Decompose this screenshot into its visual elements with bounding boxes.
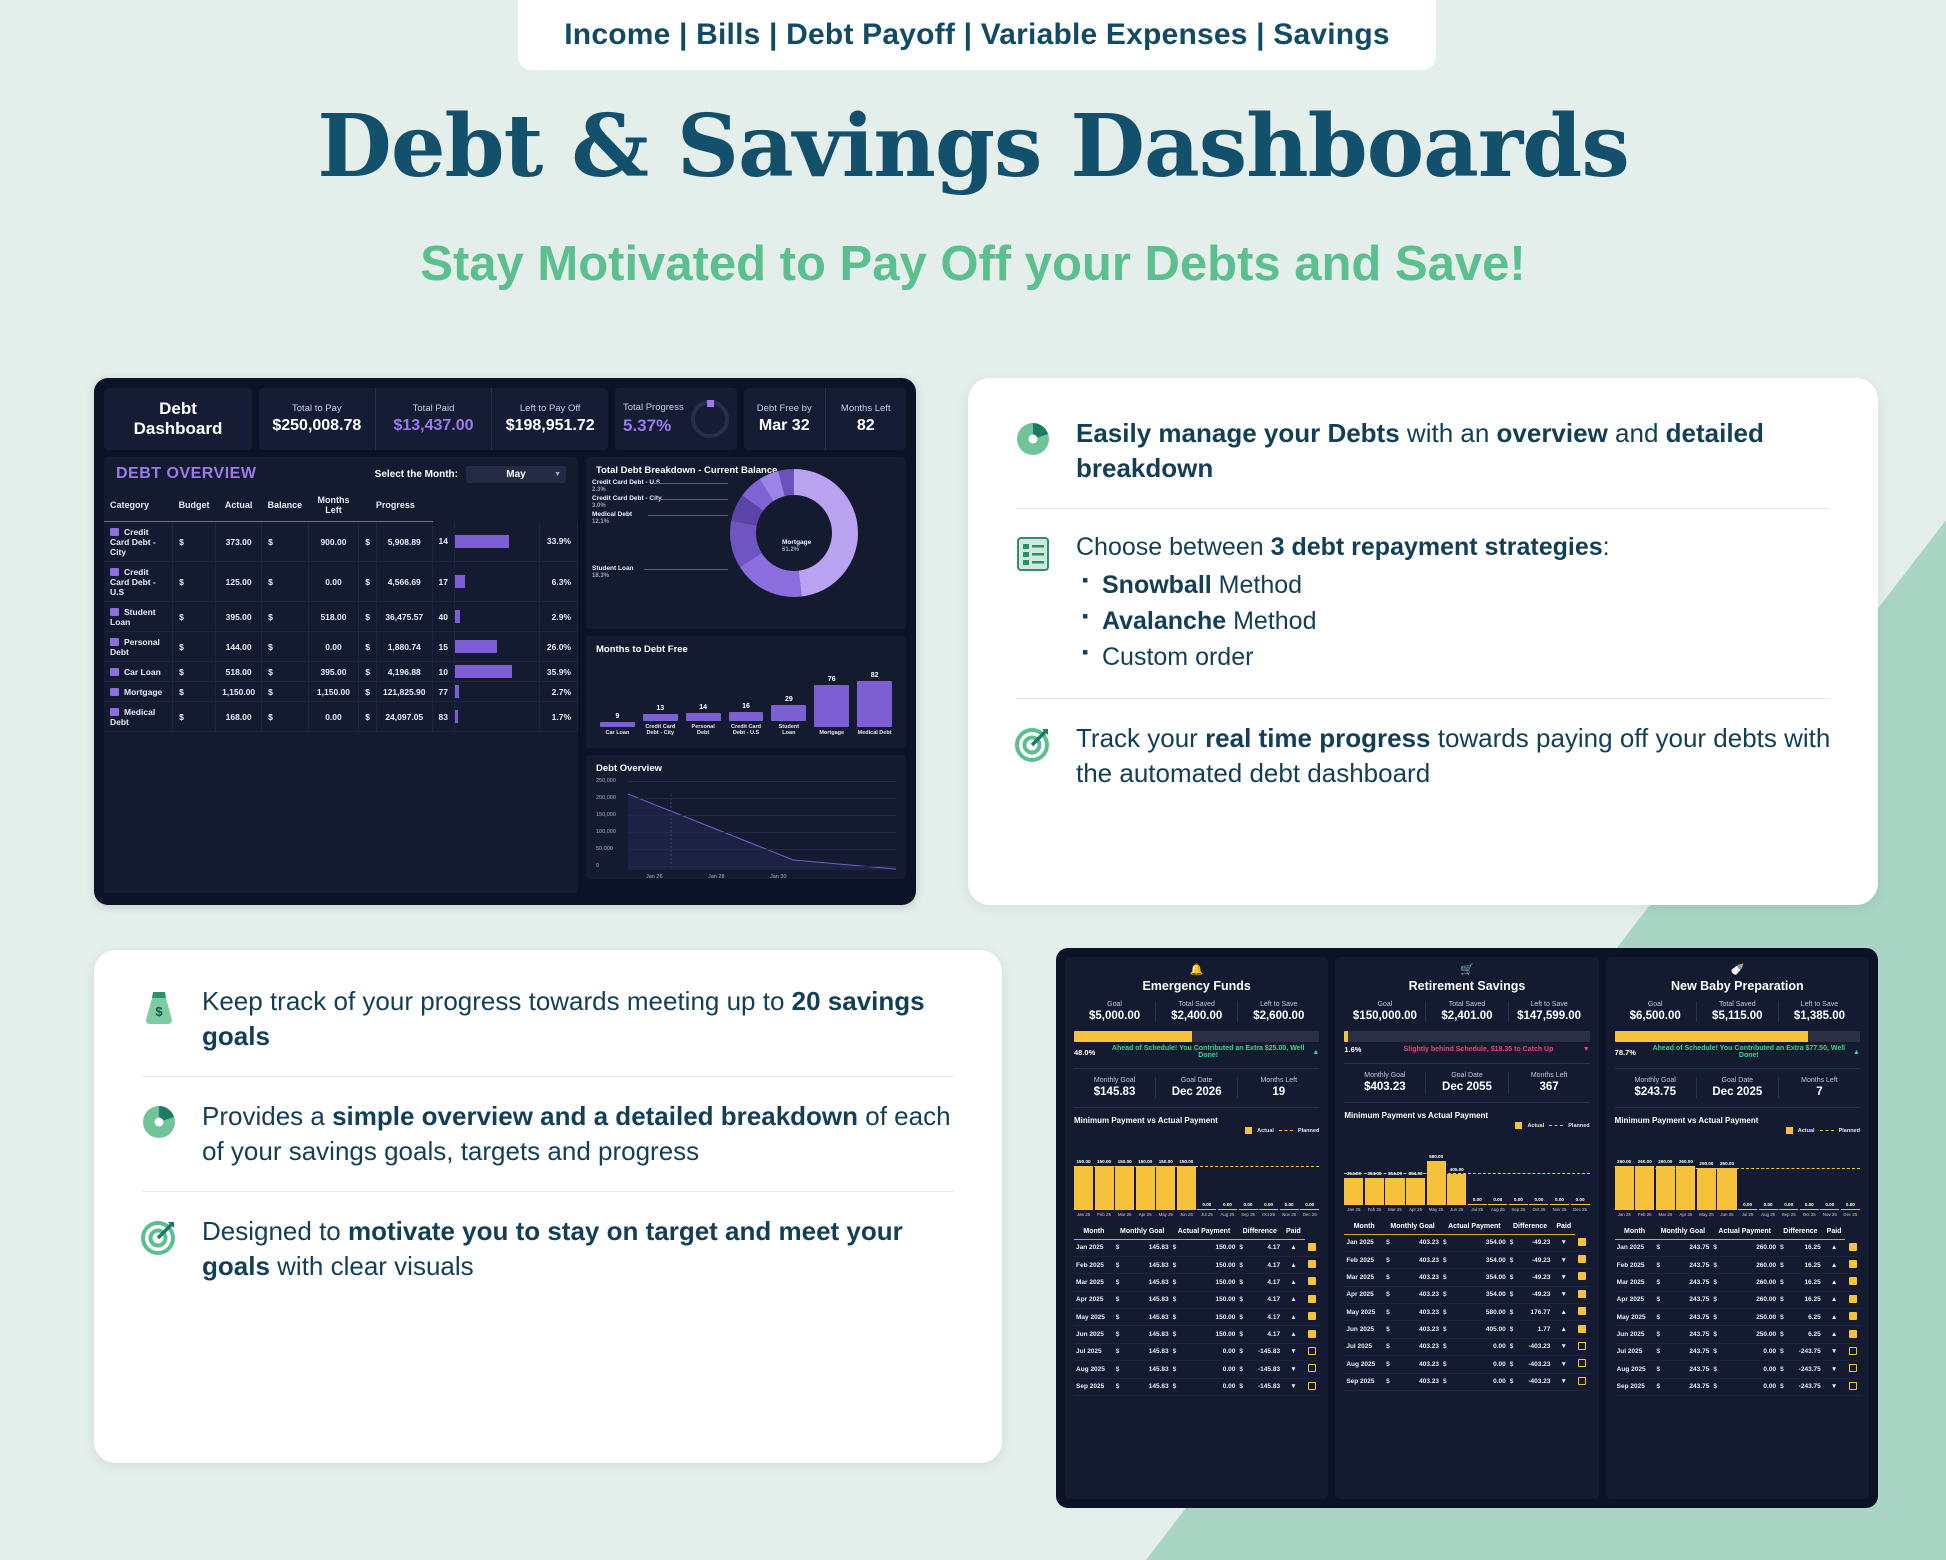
- bar-value: 260.00: [1638, 1159, 1652, 1164]
- cell-actual-payment: 0.00: [1178, 1378, 1237, 1395]
- cell-paid[interactable]: [1575, 1304, 1590, 1321]
- bar-column: 150.00: [1115, 1148, 1134, 1210]
- cell-paid[interactable]: [1305, 1256, 1320, 1273]
- bar: [857, 681, 892, 727]
- cell-difference: -403.23: [1515, 1338, 1552, 1355]
- cell-balance: 24,097.05: [376, 702, 432, 732]
- chart-title: Debt Overview: [596, 763, 896, 774]
- paid-checkbox[interactable]: [1849, 1347, 1857, 1355]
- cell-budget: 125.00: [216, 562, 262, 602]
- month-dropdown[interactable]: May ▼: [466, 466, 566, 483]
- table-row[interactable]: Apr 2025$145.83$150.00$4.17▲: [1074, 1291, 1319, 1308]
- cell-difference: -145.83: [1245, 1378, 1282, 1395]
- cell-difference: 4.17: [1245, 1256, 1282, 1273]
- cell-actual-payment: 150.00: [1178, 1291, 1237, 1308]
- paid-checkbox[interactable]: [1849, 1312, 1857, 1320]
- table-row[interactable]: Credit Card Debt - U.S$125.00$0.00$4,566…: [104, 562, 578, 602]
- cell-months-left: 40: [432, 602, 454, 632]
- donut-slice-label: Credit Card Debt - U.S2.3%: [592, 479, 660, 495]
- cell-progress-pct: 1.7%: [540, 702, 578, 732]
- table-row[interactable]: Feb 2025$243.75$260.00$16.25▲: [1615, 1256, 1860, 1273]
- trend-arrow-icon: ▼: [1823, 1361, 1846, 1378]
- paid-checkbox[interactable]: [1578, 1359, 1586, 1367]
- cell-progress-bar: [455, 662, 540, 682]
- planned-reference-line: [1344, 1173, 1589, 1174]
- cell-paid[interactable]: [1575, 1235, 1590, 1252]
- kpi-value: $5,115.00: [1697, 1010, 1778, 1022]
- paid-checkbox[interactable]: [1308, 1243, 1316, 1251]
- column-header: Balance: [262, 489, 309, 522]
- cell-budget: 518.00: [216, 662, 262, 682]
- kpi-value: $403.23: [1344, 1081, 1425, 1093]
- paid-checkbox[interactable]: [1308, 1347, 1316, 1355]
- column-header: Difference: [1237, 1224, 1282, 1240]
- debt-title-line2: Dashboard: [134, 419, 223, 439]
- cell-actual-payment: 150.00: [1178, 1256, 1237, 1273]
- cell-actual-payment: 260.00: [1719, 1291, 1778, 1308]
- trend-arrow-icon: ▼: [1823, 1378, 1846, 1395]
- cell-paid[interactable]: [1845, 1326, 1860, 1343]
- paid-checkbox[interactable]: [1578, 1255, 1586, 1263]
- savings-kpi: Total Saved$2,400.00: [1156, 1001, 1238, 1022]
- bar-column: 0.00: [1738, 1148, 1757, 1210]
- trend-arrow-icon: ▲: [1282, 1291, 1305, 1308]
- paid-checkbox[interactable]: [1308, 1382, 1316, 1390]
- cell-currency: $: [1114, 1291, 1122, 1308]
- cell-paid[interactable]: [1305, 1274, 1320, 1291]
- kpi-label: Months Left: [1779, 1077, 1860, 1084]
- bar-value: 150.00: [1077, 1159, 1091, 1164]
- cell-paid[interactable]: [1575, 1356, 1590, 1373]
- cell-currency: $: [1508, 1356, 1516, 1373]
- column-header: Monthly Goal: [1114, 1224, 1171, 1240]
- bar: [814, 685, 849, 728]
- cell-paid[interactable]: [1575, 1338, 1590, 1355]
- cell-month: Jun 2025: [1344, 1321, 1384, 1338]
- table-row[interactable]: May 2025$243.75$250.00$6.25▲: [1615, 1309, 1860, 1326]
- bar-value: 260.00: [1658, 1159, 1672, 1164]
- cell-paid[interactable]: [1845, 1291, 1860, 1308]
- savings-subkpi: Goal DateDec 2026: [1156, 1077, 1238, 1098]
- table-row[interactable]: Jun 2025$145.83$150.00$4.17▲: [1074, 1326, 1319, 1343]
- legend-swatch-actual: [1786, 1127, 1793, 1134]
- bar-column: 16Credit Card Debt - U.S: [729, 703, 764, 737]
- bar: [1115, 1166, 1134, 1210]
- feature-text: Provides a simple overview and a detaile…: [202, 1099, 958, 1169]
- table-row[interactable]: Jan 2025$403.23$354.00$-49.23▼: [1344, 1235, 1589, 1252]
- cell-currency: $: [1171, 1240, 1179, 1257]
- bar-value: 0.00: [1473, 1197, 1482, 1202]
- table-row[interactable]: Aug 2025$145.83$0.00$-145.83▼: [1074, 1361, 1319, 1378]
- bar-value: 0.00: [1805, 1202, 1814, 1207]
- x-axis-tick: Jun 25: [1447, 1207, 1466, 1212]
- kpi-label: Total Saved: [1156, 1001, 1237, 1008]
- cell-difference: 1.77: [1515, 1321, 1552, 1338]
- x-axis-tick: Aug 25: [1488, 1207, 1507, 1212]
- x-axis-tick: Aug 25: [1218, 1212, 1237, 1217]
- trend-arrow-icon: ▲: [1552, 1304, 1575, 1321]
- bar: [1136, 1166, 1155, 1210]
- cell-currency: $: [1237, 1274, 1245, 1291]
- table-row[interactable]: Mar 2025$243.75$260.00$16.25▲: [1615, 1274, 1860, 1291]
- cell-difference: -49.23: [1515, 1251, 1552, 1268]
- paid-checkbox[interactable]: [1849, 1330, 1857, 1338]
- cell-paid[interactable]: [1305, 1240, 1320, 1257]
- cell-currency: $: [1654, 1309, 1662, 1326]
- cell-progress-bar: [455, 522, 540, 562]
- kpi-value: $2,600.00: [1238, 1010, 1319, 1022]
- cell-category: Personal Debt: [104, 632, 173, 662]
- cell-monthly-goal: 243.75: [1662, 1256, 1711, 1273]
- cell-budget: 144.00: [216, 632, 262, 662]
- cell-currency: $: [1508, 1321, 1516, 1338]
- month-selector[interactable]: Select the Month: May ▼: [375, 466, 566, 483]
- cell-paid[interactable]: [1305, 1378, 1320, 1395]
- bar-value: 0.00: [1264, 1202, 1273, 1207]
- cell-month: Feb 2025: [1615, 1256, 1655, 1273]
- cell-difference: 4.17: [1245, 1309, 1282, 1326]
- paid-checkbox[interactable]: [1849, 1277, 1857, 1285]
- trend-arrow-icon: ▲: [1552, 1321, 1575, 1338]
- kpi-label: Goal: [1074, 1001, 1155, 1008]
- cell-difference: -243.75: [1786, 1361, 1823, 1378]
- cell-currency: $: [1778, 1326, 1786, 1343]
- category-icon: [110, 608, 119, 616]
- feature-text: Easily manage your Debts with an overvie…: [1076, 416, 1834, 486]
- bar: [600, 722, 635, 727]
- donut-slice-label: Mortgage61.2%: [782, 539, 811, 555]
- cell-paid[interactable]: [1305, 1343, 1320, 1360]
- trend-arrow-icon: ▼: [1552, 1373, 1575, 1390]
- trend-arrow-icon: ▼: [1552, 1251, 1575, 1268]
- bar-value: 13: [656, 705, 664, 712]
- cell-currency: $: [1171, 1274, 1179, 1291]
- bar-column: 0.00: [1779, 1148, 1798, 1210]
- x-axis-tick: Jan 25: [1615, 1212, 1634, 1217]
- cell-month: Jul 2025: [1615, 1343, 1655, 1360]
- cell-difference: 4.17: [1245, 1291, 1282, 1308]
- paid-checkbox[interactable]: [1849, 1260, 1857, 1268]
- cell-currency: $: [1114, 1309, 1122, 1326]
- bar: [1779, 1209, 1798, 1210]
- bar-value: 0.00: [1202, 1202, 1211, 1207]
- table-row[interactable]: Medical Debt$168.00$0.00$24,097.05831.7%: [104, 702, 578, 732]
- savings-goal-panel: 🔔Emergency FundsGoal$5,000.00Total Saved…: [1065, 957, 1328, 1499]
- cell-paid[interactable]: [1845, 1361, 1860, 1378]
- trend-arrow-icon: ▼: [1282, 1378, 1305, 1395]
- bar-value: 150.00: [1118, 1159, 1132, 1164]
- paid-checkbox[interactable]: [1308, 1277, 1316, 1285]
- marketing-page: Income | Bills | Debt Payoff | Variable …: [0, 0, 1946, 1557]
- paid-checkbox[interactable]: [1578, 1342, 1586, 1350]
- cell-currency: $: [1114, 1326, 1122, 1343]
- cell-paid[interactable]: [1575, 1251, 1590, 1268]
- kpi-value: $243.75: [1615, 1086, 1696, 1098]
- feature-text: Designed to motivate you to stay on targ…: [202, 1214, 958, 1284]
- cell-monthly-goal: 145.83: [1121, 1378, 1170, 1395]
- kpi-label: Debt Free by: [757, 403, 812, 414]
- strategy-list: Snowball Method Avalanche Method Custom …: [1076, 567, 1610, 676]
- bar-value: 0.00: [1285, 1202, 1294, 1207]
- leader-line: [656, 499, 728, 500]
- bar-value: 0.00: [1825, 1202, 1834, 1207]
- table-row[interactable]: Mar 2025$145.83$150.00$4.17▲: [1074, 1274, 1319, 1291]
- table-row[interactable]: Jun 2025$243.75$250.00$6.25▲: [1615, 1326, 1860, 1343]
- schedule-status: Ahead of Schedule! You Contributed an Ex…: [1110, 1045, 1306, 1059]
- cell-paid[interactable]: [1845, 1240, 1860, 1257]
- bar-label: Medical Debt: [858, 730, 892, 737]
- trend-arrow-icon: ▼: [1282, 1361, 1305, 1378]
- x-axis-tick: Oct 25: [1529, 1207, 1548, 1212]
- y-axis-tick: 50,000: [596, 846, 613, 852]
- paid-checkbox[interactable]: [1578, 1290, 1586, 1298]
- cell-actual: 518.00: [308, 602, 359, 632]
- cell-currency: $: [1654, 1378, 1662, 1395]
- table-row[interactable]: Apr 2025$243.75$260.00$16.25▲: [1615, 1291, 1860, 1308]
- cell-progress-bar: [455, 632, 540, 662]
- savings-kpi: Total Saved$5,115.00: [1697, 1001, 1779, 1022]
- cell-paid[interactable]: [1305, 1309, 1320, 1326]
- savings-progress: 48.0%Ahead of Schedule! You Contributed …: [1074, 1031, 1319, 1059]
- x-axis-labels: Jan 25Feb 25Mar 25Apr 25May 25Jun 25Jul …: [1344, 1205, 1589, 1212]
- payment-bar-chart: 260.00260.00260.00260.00250.00250.000.00…: [1615, 1148, 1860, 1210]
- cell-paid[interactable]: [1575, 1286, 1590, 1303]
- table-row[interactable]: May 2025$145.83$150.00$4.17▲: [1074, 1309, 1319, 1326]
- table-row[interactable]: Aug 2025$403.23$0.00$-403.23▼: [1344, 1356, 1589, 1373]
- kpi-label: Monthly Goal: [1615, 1077, 1696, 1084]
- x-axis-tick: Apr 25: [1406, 1207, 1425, 1212]
- savings-subkpi: Monthly Goal$403.23: [1344, 1072, 1426, 1093]
- cell-currency: $: [1711, 1274, 1719, 1291]
- chart-legend: ActualPlanned: [1074, 1127, 1319, 1134]
- cell-balance: 36,475.57: [376, 602, 432, 632]
- trend-arrow-icon: ▼: [1552, 1235, 1575, 1252]
- cell-paid[interactable]: [1305, 1291, 1320, 1308]
- bar-value: 0.00: [1764, 1202, 1773, 1207]
- kpi-total-progress: Total Progress 5.37%: [615, 388, 737, 450]
- paid-checkbox[interactable]: [1578, 1377, 1586, 1385]
- bar-column: 150.00: [1095, 1148, 1114, 1210]
- paid-checkbox[interactable]: [1308, 1312, 1316, 1320]
- pie-chart-icon: [1012, 418, 1054, 460]
- paid-checkbox[interactable]: [1578, 1307, 1586, 1315]
- cell-month: Aug 2025: [1615, 1361, 1655, 1378]
- cell-currency: $: [1778, 1240, 1786, 1257]
- table-row[interactable]: Jan 2025$145.83$150.00$4.17▲: [1074, 1240, 1319, 1257]
- bar: [686, 713, 721, 721]
- x-axis-tick: Dec 25: [1571, 1207, 1590, 1212]
- leader-line: [656, 483, 728, 484]
- cell-actual: 0.00: [308, 632, 359, 662]
- bar-column: 250.00: [1697, 1148, 1716, 1210]
- cell-paid[interactable]: [1845, 1274, 1860, 1291]
- list-item: Custom order: [1076, 639, 1610, 675]
- list-item: Avalanche Method: [1076, 603, 1610, 639]
- bar-value: 0.00: [1555, 1197, 1564, 1202]
- debt-free-group: Debt Free by Mar 32 Months Left 82: [744, 388, 906, 450]
- cell-actual-payment: 354.00: [1449, 1286, 1508, 1303]
- table-row[interactable]: Personal Debt$144.00$0.00$1,880.741526.0…: [104, 632, 578, 662]
- cell-balance: 1,880.74: [376, 632, 432, 662]
- debt-breakdown-chart: Total Debt Breakdown - Current Balance C…: [586, 457, 906, 629]
- cell-currency: $: [1654, 1240, 1662, 1257]
- cell-monthly-goal: 145.83: [1121, 1240, 1170, 1257]
- donut-slice-label: Student Loan18.3%: [592, 565, 634, 581]
- trend-arrow-icon: ▼: [1552, 1356, 1575, 1373]
- table-row[interactable]: Credit Card Debt - City$373.00$900.00$5,…: [104, 522, 578, 562]
- cell-month: Feb 2025: [1344, 1251, 1384, 1268]
- savings-kpi: Goal$150,000.00: [1344, 1001, 1426, 1022]
- status-arrow-icon: ▲: [1853, 1049, 1860, 1056]
- cell-difference: -49.23: [1515, 1286, 1552, 1303]
- savings-goal-title: Emergency Funds: [1074, 979, 1319, 993]
- paid-checkbox[interactable]: [1849, 1295, 1857, 1303]
- paid-checkbox[interactable]: [1308, 1260, 1316, 1268]
- bar-value: 0.00: [1534, 1197, 1543, 1202]
- bar-value: 150.00: [1159, 1159, 1173, 1164]
- gridline: [628, 849, 896, 850]
- kpi-label: Total Paid: [413, 403, 455, 414]
- cell-progress-bar: [455, 682, 540, 702]
- cell-monthly-goal: 403.23: [1392, 1373, 1441, 1390]
- baby-bottle-icon: 🍼: [1615, 965, 1860, 976]
- table-header-row: MonthMonthly GoalActual PaymentDifferenc…: [1344, 1219, 1589, 1235]
- trend-arrow-icon: ▲: [1282, 1326, 1305, 1343]
- column-header: Month: [1074, 1224, 1114, 1240]
- kpi-value: $150,000.00: [1344, 1010, 1425, 1022]
- cell-paid[interactable]: [1575, 1321, 1590, 1338]
- table-row[interactable]: Mortgage$1,150.00$1,150.00$121,825.90772…: [104, 682, 578, 702]
- paid-checkbox[interactable]: [1849, 1243, 1857, 1251]
- cell-actual-payment: 0.00: [1449, 1373, 1508, 1390]
- table-row[interactable]: Mar 2025$403.23$354.00$-49.23▼: [1344, 1269, 1589, 1286]
- table-row[interactable]: Jan 2025$243.75$260.00$16.25▲: [1615, 1240, 1860, 1257]
- table-row[interactable]: Student Loan$395.00$518.00$36,475.57402.…: [104, 602, 578, 632]
- cell-actual-payment: 0.00: [1719, 1361, 1778, 1378]
- bar-value: 150.00: [1179, 1159, 1193, 1164]
- kpi-label: Months Left: [1238, 1077, 1319, 1084]
- bar-value: 250.00: [1699, 1161, 1713, 1166]
- category-icon: [110, 688, 119, 696]
- table-row[interactable]: Feb 2025$145.83$150.00$4.17▲: [1074, 1256, 1319, 1273]
- trend-arrow-icon: ▲: [1282, 1309, 1305, 1326]
- paid-checkbox[interactable]: [1578, 1325, 1586, 1333]
- donut-slice-label: Credit Card Debt - City3.0%: [592, 495, 662, 511]
- cell-progress-bar: [455, 602, 540, 632]
- cell-paid[interactable]: [1845, 1256, 1860, 1273]
- cell-month: Jun 2025: [1074, 1326, 1114, 1343]
- divider: [1016, 508, 1830, 509]
- cell-currency: $: [1654, 1361, 1662, 1378]
- bar-column: 0.00: [1759, 1148, 1778, 1210]
- bar-column: 14Personal Debt: [686, 704, 721, 737]
- payment-bar-chart: 150.00150.00150.00150.00150.00150.000.00…: [1074, 1148, 1319, 1210]
- cell-category: Car Loan: [104, 662, 173, 682]
- cell-currency: $: [1441, 1321, 1449, 1338]
- cell-paid[interactable]: [1575, 1373, 1590, 1390]
- cell-monthly-goal: 243.75: [1662, 1378, 1711, 1395]
- cell-paid[interactable]: [1575, 1269, 1590, 1286]
- paid-checkbox[interactable]: [1578, 1238, 1586, 1246]
- table-row[interactable]: Car Loan$518.00$395.00$4,196.881035.9%: [104, 662, 578, 682]
- kpi-value: $13,437.00: [393, 417, 473, 435]
- cell-monthly-goal: 145.83: [1121, 1343, 1170, 1360]
- cell-months-left: 83: [432, 702, 454, 732]
- table-row[interactable]: Sep 2025$403.23$0.00$-403.23▼: [1344, 1373, 1589, 1390]
- cell-currency: $: [1441, 1235, 1449, 1252]
- x-axis-tick: Jan 25: [1344, 1207, 1363, 1212]
- cell-progress-pct: 26.0%: [540, 632, 578, 662]
- cell-paid[interactable]: [1845, 1343, 1860, 1360]
- x-axis-tick: Aug 25: [1759, 1212, 1778, 1217]
- cell-currency: $: [1711, 1326, 1719, 1343]
- progress-track: [1615, 1031, 1860, 1042]
- paid-checkbox[interactable]: [1849, 1364, 1857, 1372]
- kpi-label: Goal: [1344, 1001, 1425, 1008]
- savings-subkpi: Goal DateDec 2025: [1697, 1077, 1779, 1098]
- bar: [1197, 1209, 1216, 1210]
- cell-currency: $: [359, 602, 377, 632]
- table-row[interactable]: Sep 2025$243.75$0.00$-243.75▼: [1615, 1378, 1860, 1395]
- table-row[interactable]: Jul 2025$243.75$0.00$-243.75▼: [1615, 1343, 1860, 1360]
- cell-balance: 4,566.69: [376, 562, 432, 602]
- paid-checkbox[interactable]: [1308, 1364, 1316, 1372]
- paid-checkbox[interactable]: [1849, 1382, 1857, 1390]
- cell-actual-payment: 250.00: [1719, 1326, 1778, 1343]
- paid-checkbox[interactable]: [1308, 1295, 1316, 1303]
- status-arrow-icon: ▼: [1583, 1046, 1590, 1053]
- cell-currency: $: [1237, 1326, 1245, 1343]
- cell-paid[interactable]: [1845, 1378, 1860, 1395]
- legend-swatch-actual: [1245, 1127, 1252, 1134]
- x-axis-tick: May 25: [1427, 1207, 1446, 1212]
- table-row[interactable]: Jul 2025$145.83$0.00$-145.83▼: [1074, 1343, 1319, 1360]
- table-row[interactable]: May 2025$403.23$580.00$176.77▲: [1344, 1304, 1589, 1321]
- legend-label-actual: Actual: [1798, 1128, 1815, 1134]
- table-row[interactable]: Feb 2025$403.23$354.00$-49.23▼: [1344, 1251, 1589, 1268]
- cell-paid[interactable]: [1845, 1309, 1860, 1326]
- cell-currency: $: [1778, 1274, 1786, 1291]
- features-savings-card: $ Keep track of your progress towards me…: [94, 950, 1002, 1463]
- table-row[interactable]: Jul 2025$403.23$0.00$-403.23▼: [1344, 1338, 1589, 1355]
- table-row[interactable]: Apr 2025$403.23$354.00$-49.23▼: [1344, 1286, 1589, 1303]
- table-row[interactable]: Sep 2025$145.83$0.00$-145.83▼: [1074, 1378, 1319, 1395]
- debt-overview-table: CategoryBudgetActualBalanceMonths LeftPr…: [104, 489, 578, 732]
- table-row[interactable]: Jun 2025$403.23$405.00$1.77▲: [1344, 1321, 1589, 1338]
- cell-paid[interactable]: [1305, 1361, 1320, 1378]
- x-axis-tick: Oct 25: [1800, 1212, 1819, 1217]
- cell-category: Medical Debt: [104, 702, 173, 732]
- kpi-value: 7: [1779, 1086, 1860, 1098]
- cell-currency: $: [1711, 1309, 1719, 1326]
- cell-actual-payment: 150.00: [1178, 1309, 1237, 1326]
- payment-schedule-table: MonthMonthly GoalActual PaymentDifferenc…: [1074, 1224, 1319, 1396]
- cell-currency: $: [1778, 1378, 1786, 1395]
- planned-reference-line: [1615, 1168, 1860, 1169]
- paid-checkbox[interactable]: [1308, 1330, 1316, 1338]
- features-debt-card: Easily manage your Debts with an overvie…: [968, 378, 1878, 905]
- cell-currency: $: [1441, 1356, 1449, 1373]
- x-axis-tick: Nov 25: [1820, 1212, 1839, 1217]
- cell-difference: -145.83: [1245, 1343, 1282, 1360]
- bar-value: 150.00: [1097, 1159, 1111, 1164]
- cell-paid[interactable]: [1305, 1326, 1320, 1343]
- table-row[interactable]: Aug 2025$243.75$0.00$-243.75▼: [1615, 1361, 1860, 1378]
- progress-percent: 1.6%: [1344, 1045, 1374, 1054]
- bar-column: 0.00: [1800, 1148, 1819, 1210]
- cell-difference: 16.25: [1786, 1291, 1823, 1308]
- paid-checkbox[interactable]: [1578, 1272, 1586, 1280]
